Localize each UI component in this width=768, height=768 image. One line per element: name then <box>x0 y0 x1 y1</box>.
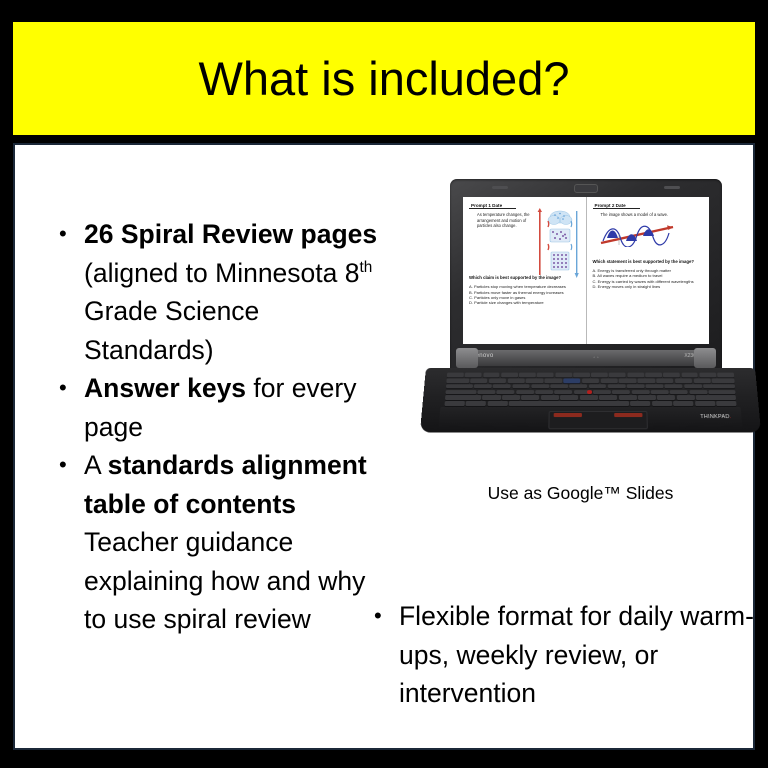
prompt-2-question: Which statement is best supported by the… <box>593 259 705 265</box>
bullet-3-rest1: Teacher guidance explaining how and why … <box>84 527 365 634</box>
thinkpad-logo-text: THINKPAD <box>700 414 730 420</box>
right-column: Prompt 1 Date As temperature changes, th… <box>413 145 758 748</box>
format-bullet-list: Flexible format for daily warm-ups, week… <box>371 597 756 713</box>
hinge-cap-right <box>694 348 716 368</box>
prompt-2-options: A. Energy is transferred only through ma… <box>593 268 705 289</box>
states-of-matter-particle-diagram-icon <box>536 207 582 279</box>
laptop-base: THINKPAD. <box>420 368 761 433</box>
keyboard-row <box>444 401 736 406</box>
laptop-caption: Use as Google™ Slides <box>413 483 748 504</box>
prompt-1-header-text: Prompt 1 Date <box>471 203 502 208</box>
touchpad-button-right[interactable] <box>614 413 642 417</box>
laptop-hinge-bar: lenovo ▫ ▫ X230 <box>460 350 712 366</box>
bullet-3-pre: A <box>84 450 108 480</box>
screen-pane-prompt-1: Prompt 1 Date As temperature changes, th… <box>463 197 586 344</box>
laptop-lid: Prompt 1 Date As temperature changes, th… <box>450 179 722 372</box>
content-panel: 26 Spiral Review pages (aligned to Minne… <box>13 143 755 750</box>
keyboard-row <box>445 395 736 400</box>
keyboard-row <box>446 378 734 383</box>
laptop-palmrest: THINKPAD. <box>439 407 743 429</box>
transverse-wave-diagram-icon <box>599 221 677 247</box>
status-led-icon: ▫ ▫ <box>594 355 599 361</box>
bullet-1-rest2: Grade Science Standards) <box>84 296 259 365</box>
hinge-cap-left <box>456 348 478 368</box>
screen-pane-prompt-2: Prompt 2 Date The image shows a model of… <box>586 197 710 344</box>
right-bullet-column: Flexible format for daily warm-ups, week… <box>371 597 756 713</box>
slide-deck-preview: Prompt 1 Date As temperature changes, th… <box>463 197 709 344</box>
thinkpad-logo: THINKPAD. <box>700 414 731 420</box>
prompt-2-header: Prompt 2 Date <box>593 203 705 208</box>
list-item: 26 Spiral Review pages (aligned to Minne… <box>57 215 387 369</box>
laptop-illustration: Prompt 1 Date As temperature changes, th… <box>423 179 758 432</box>
prompt-1-body-wrap: As temperature changes, the arrangement … <box>469 212 539 229</box>
slide: What is included? 26 Spiral Review pages… <box>0 0 768 768</box>
thinkpad-logo-dot: . <box>729 414 731 420</box>
bullet-2-bold: Answer keys <box>84 373 246 403</box>
laptop-screen: Prompt 1 Date As temperature changes, th… <box>463 197 709 344</box>
prompt-2-option-d: D. Energy moves only in straight lines <box>593 284 705 289</box>
keyboard-row <box>447 373 734 378</box>
keyboard-row <box>446 384 735 389</box>
prompt-2-body: The image shows a model of a wave. <box>601 212 705 218</box>
touchpad[interactable] <box>548 411 648 429</box>
prompt-2-body-wrap: The image shows a model of a wave. <box>593 212 705 218</box>
bullet-1-rest1: (aligned to Minnesota 8 <box>84 258 359 288</box>
feature-bullet-list: 26 Spiral Review pages (aligned to Minne… <box>57 215 387 639</box>
prompt-1-options: A. Particles stop moving when temperatur… <box>469 284 581 305</box>
trackpoint-icon[interactable] <box>587 390 592 394</box>
bezel-vent-left-icon <box>492 186 508 189</box>
prompt-1-option-a: A. Particles stop moving when temperatur… <box>469 284 581 289</box>
bullet-1-bold: 26 Spiral Review pages <box>84 219 377 249</box>
touchpad-button-left[interactable] <box>554 413 582 417</box>
prompt-1-option-d: D. Particle size changes with temperatur… <box>469 300 581 305</box>
bullet-3-bold: standards alignment table of contents <box>84 450 367 519</box>
prompt-2-header-text: Prompt 2 Date <box>595 203 626 208</box>
bezel-vent-right-icon <box>664 186 680 189</box>
list-item: Answer keys for every page <box>57 369 387 446</box>
bullet-1-superscript: th <box>359 259 372 276</box>
title-banner: What is included? <box>13 22 755 135</box>
prompt-1-body: As temperature changes, the arrangement … <box>477 212 539 229</box>
list-item: A standards alignment table of contents … <box>57 446 387 639</box>
webcam-icon <box>574 184 598 193</box>
left-bullet-column: 26 Spiral Review pages (aligned to Minne… <box>57 215 387 639</box>
page-title: What is included? <box>199 55 570 102</box>
list-item: Flexible format for daily warm-ups, week… <box>371 597 756 713</box>
